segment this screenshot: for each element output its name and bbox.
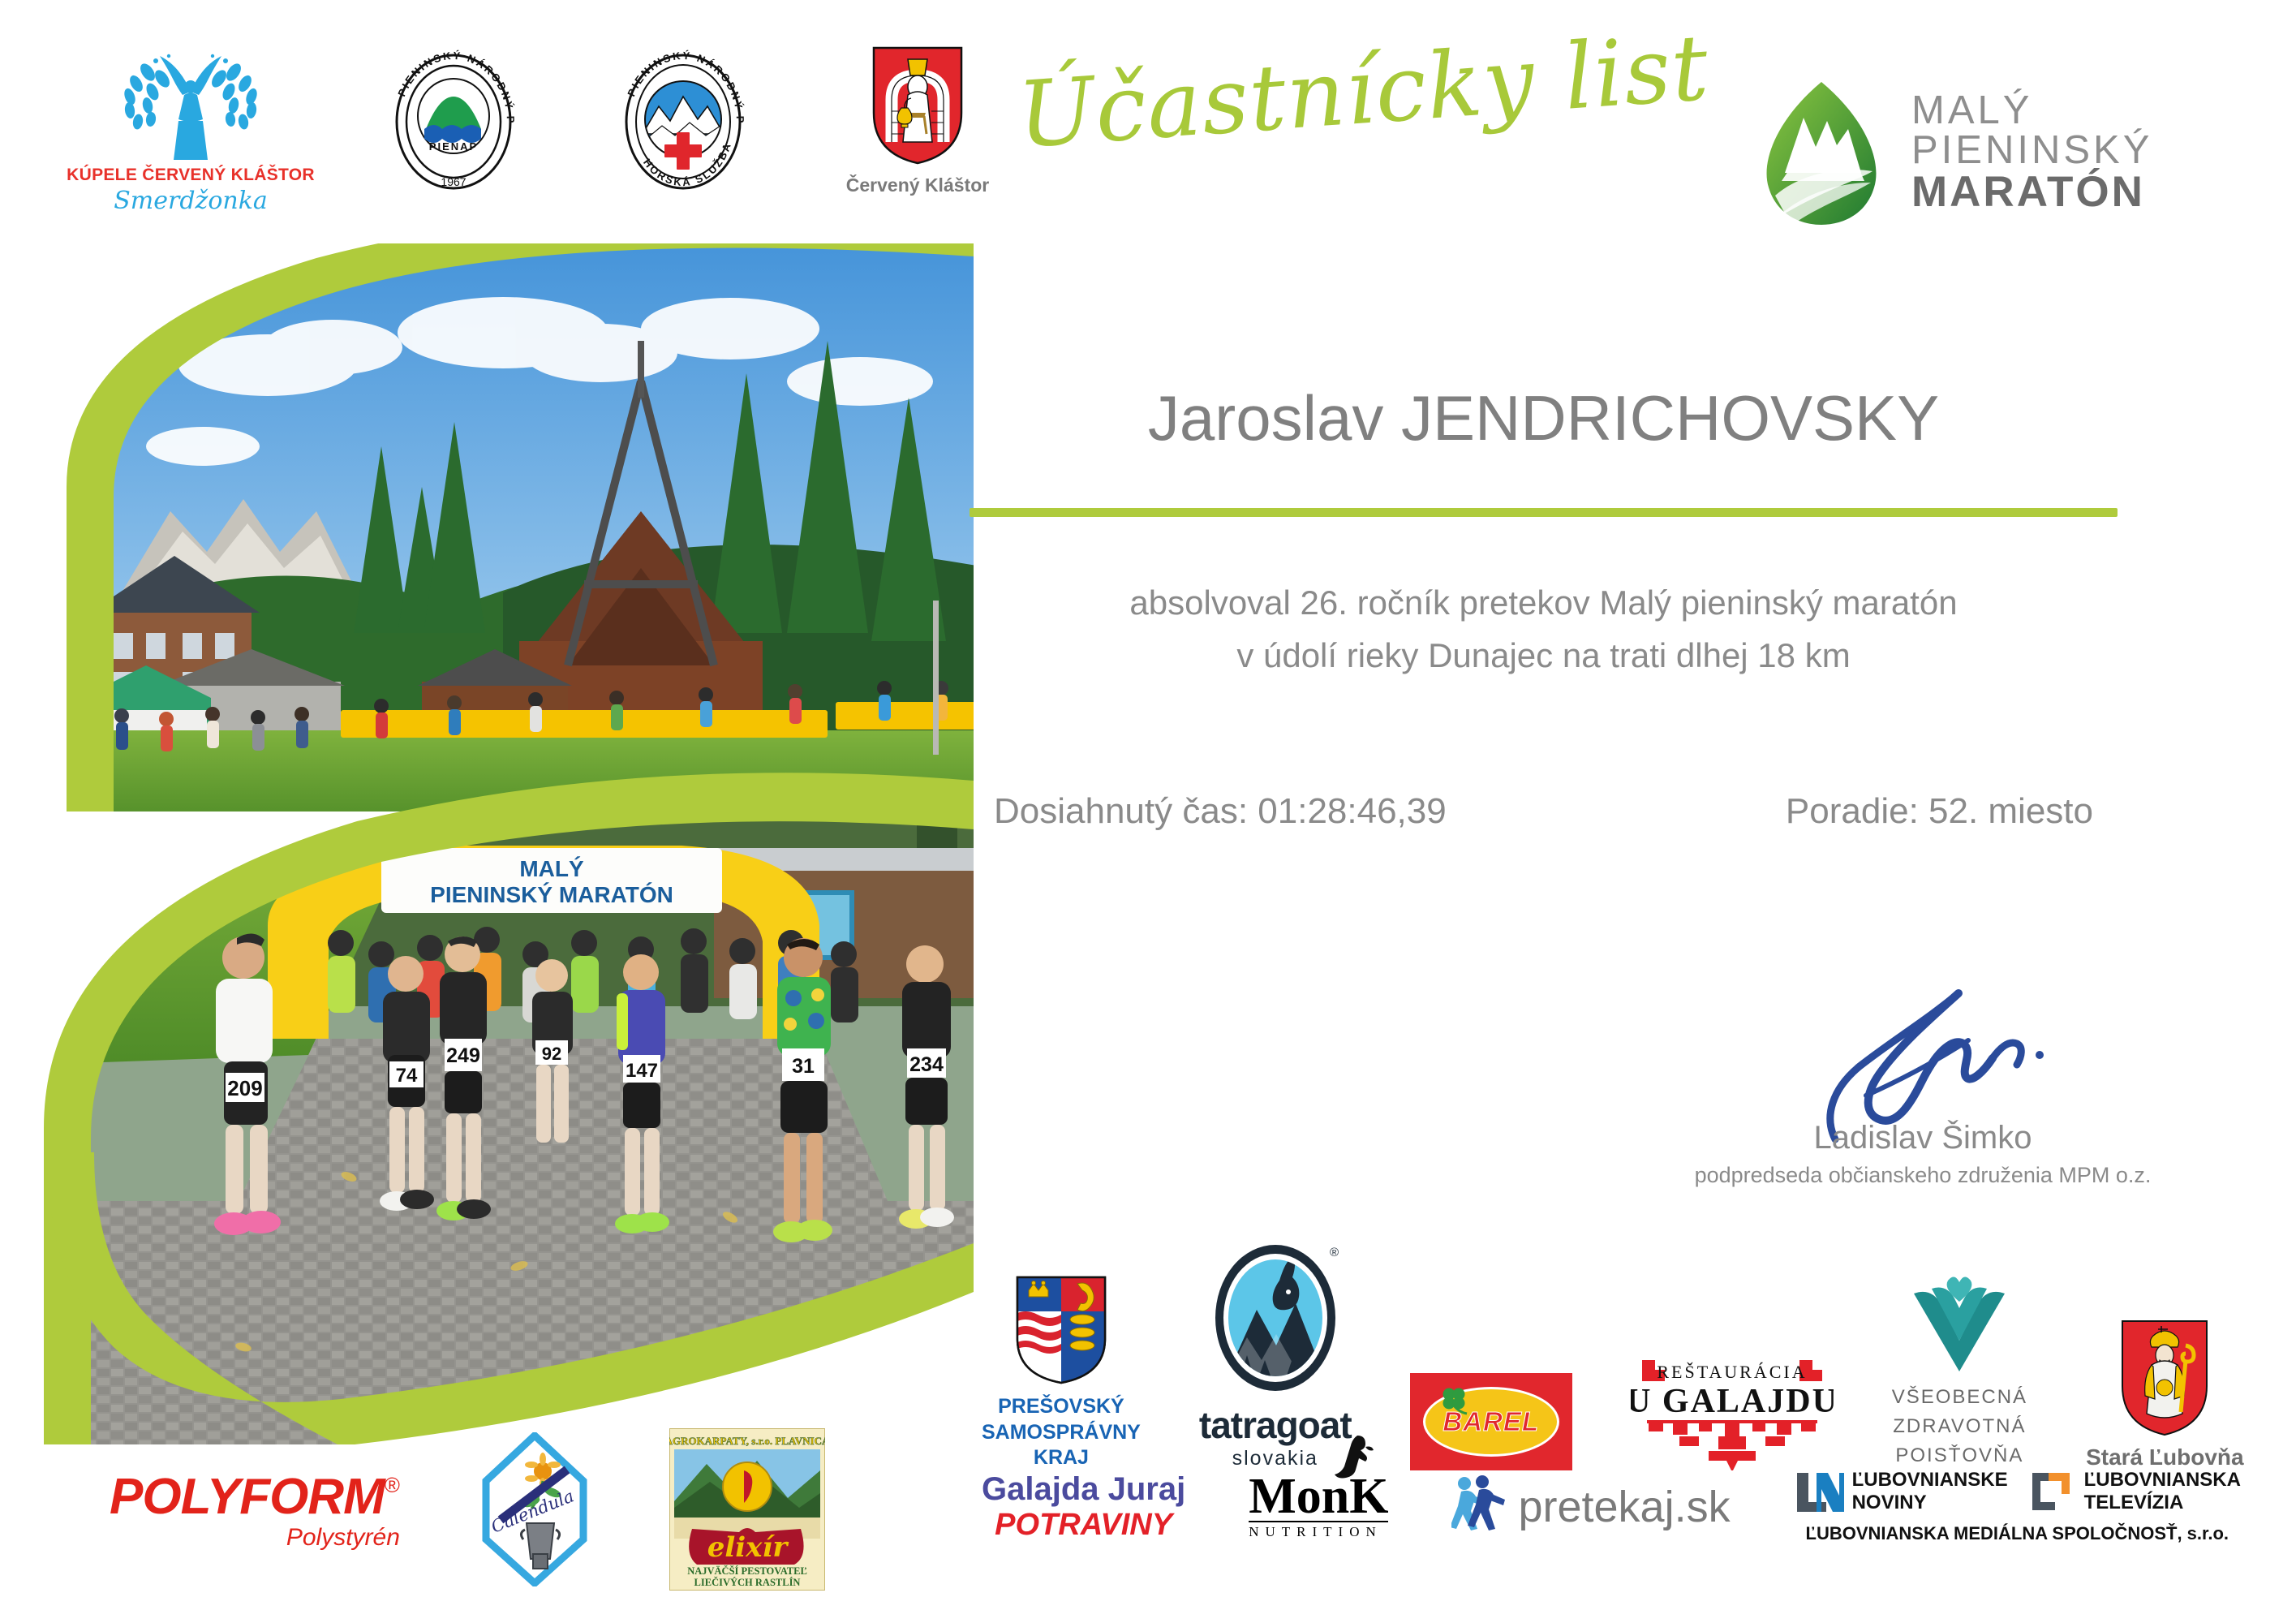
- sponsor-lubovnianska-medialna: ĽUBOVNIANSKE NOVINY ĽUBOVNIANSKA TELEVÍZ…: [1794, 1469, 2241, 1544]
- brand-line-2: PIENINSKÝ: [1911, 131, 2152, 170]
- svg-text:LIEČIVÝCH RASTLÍN: LIEČIVÝCH RASTLÍN: [694, 1577, 800, 1588]
- certificate-results: Dosiahnutý čas: 01:28:46,39 Poradie: 52.…: [970, 791, 2118, 832]
- svg-text:AGROKARPATY, s.r.o. PLAVNICA: AGROKARPATY, s.r.o. PLAVNICA: [669, 1435, 825, 1447]
- leaf-mountain-icon: [1752, 77, 1890, 227]
- signature-block: Ladislav Šimko podpredseda občianskeho z…: [1639, 998, 2207, 1188]
- logo-horska-sluzba: PIENINSKÝ NÁRODNÝ PARK HORSKÁ SLUŽBA: [615, 45, 751, 199]
- town-crest-icon: [869, 45, 966, 166]
- photo-collage: MALÝ PIENINSKÝ MARATÓN: [0, 243, 974, 1444]
- pretekaj-word: pretekaj.sk: [1518, 1482, 1730, 1532]
- sponsor-row-primary: PREŠOVSKÝ SAMOSPRÁVNY KRAJ: [982, 1242, 2244, 1470]
- description-line-1: absolvoval 26. ročník pretekov Malý pien…: [970, 576, 2118, 629]
- tatragoat-sub: slovakia: [1232, 1447, 1318, 1470]
- tatragoat-word: tatragoat: [1199, 1403, 1352, 1447]
- tatragoat-rmark: ®: [1330, 1246, 1339, 1259]
- participant-name: Jaroslav JENDRICHOVSKY: [970, 381, 2118, 455]
- result-time: Dosiahnutý čas: 01:28:46,39: [994, 791, 1447, 832]
- svg-text:elixír: elixír: [707, 1531, 789, 1564]
- stara-lubovna-label: Stará Ľubovňa: [2086, 1444, 2243, 1470]
- galajda-line-2: POTRAVINY: [995, 1508, 1172, 1543]
- lubovnianska-televizia-label: ĽUBOVNIANSKA TELEVÍZIA: [2084, 1469, 2241, 1513]
- lubovnianske-noviny-label: ĽUBOVNIANSKE NOVINY: [1852, 1469, 2008, 1513]
- svg-text:249: 249: [446, 1044, 480, 1067]
- sponsor-tatragoat: ® tatragoat slovakia: [1199, 1242, 1352, 1470]
- svg-text:MALÝ: MALÝ: [519, 856, 584, 881]
- agrokarpaty-elixir-icon: AGROKARPATY, s.r.o. PLAVNICA elixír NAJV…: [669, 1428, 825, 1591]
- signatory-name: Ladislav Šimko: [1639, 1120, 2207, 1156]
- sponsor-polyform: POLYFORM ® Polystyrén: [110, 1468, 400, 1552]
- signatory-role: podpredseda občianskeho združenia MPM o.…: [1639, 1163, 2207, 1188]
- ltv-logo-icon: [2029, 1470, 2076, 1513]
- svg-text:31: 31: [792, 1055, 815, 1078]
- lms-logos: ĽUBOVNIANSKE NOVINY ĽUBOVNIANSKA TELEVÍZ…: [1794, 1469, 2241, 1513]
- sponsor-galajda-juraj: Galajda Juraj POTRAVINY: [982, 1471, 1185, 1543]
- svg-text:92: 92: [542, 1044, 561, 1064]
- sponsor-group-bottom-left: POLYFORM ® Polystyrén: [110, 1428, 825, 1591]
- park-emblem-icon: PIENINSKÝ NÁRODNÝ PARK PIENAP 1967: [385, 45, 522, 199]
- marathon-brand-logo: MALÝ PIENINSKÝ MARATÓN: [1752, 77, 2152, 227]
- presov-region-crest-icon: [1014, 1274, 1108, 1386]
- svg-text:209: 209: [227, 1076, 262, 1100]
- galajda-line-1: Galajda Juraj: [982, 1471, 1185, 1508]
- svg-text:234: 234: [909, 1053, 944, 1076]
- svg-text:147: 147: [626, 1060, 658, 1082]
- logo-kupele-cerveny-klastor: KÚPELE ČERVENÝ KLÁŠTOR Smerdžonka: [89, 45, 292, 215]
- svg-text:REŠTAURÁCIA: REŠTAURÁCIA: [1657, 1362, 1807, 1382]
- two-runners-icon: [1451, 1474, 1507, 1540]
- sponsor-pretekaj: pretekaj.sk: [1451, 1474, 1730, 1540]
- logo-cerveny-klastor: Červený Kláštor: [845, 45, 991, 196]
- sponsor-stara-lubovna: Stará Ľubovňa: [2086, 1318, 2243, 1470]
- svg-text:PIENINSKÝ MARATÓN: PIENINSKÝ MARATÓN: [430, 882, 673, 907]
- svg-text:NAJVÄČŠÍ PESTOVATEĽ: NAJVÄČŠÍ PESTOVATEĽ: [687, 1565, 807, 1577]
- vszp-icon: [1907, 1271, 2011, 1375]
- certificate-description: absolvoval 26. ročník pretekov Malý pien…: [970, 576, 2118, 682]
- sponsor-elixir: AGROKARPATY, s.r.o. PLAVNICA elixír NAJV…: [669, 1428, 825, 1591]
- svg-text:1967: 1967: [441, 175, 466, 188]
- sponsor-barel: BAREL: [1410, 1373, 1572, 1470]
- ln-logo-icon: [1794, 1470, 1844, 1513]
- description-line-2: v údolí rieky Dunajec na trati dlhej 18 …: [970, 629, 2118, 682]
- sponsor-u-galajdu: REŠTAURÁCIA U GALAJDU: [1631, 1349, 1834, 1470]
- calendula-icon: Calendula: [481, 1432, 588, 1586]
- photo-collage-svg: MALÝ PIENINSKÝ MARATÓN: [0, 243, 974, 1444]
- lms-company-name: ĽUBOVNIANSKA MEDIÁLNA SPOLOČNOSŤ, s.r.o.: [1806, 1523, 2229, 1544]
- sponsor-calendula: Calendula: [481, 1432, 588, 1586]
- page-title: Účastnícky list: [1014, 15, 1712, 169]
- water-angel-icon: [97, 45, 284, 162]
- vszp-label: VŠEOBECNÁ ZDRAVOTNÁ POISŤOVŇA: [1892, 1383, 2027, 1470]
- polyform-word: POLYFORM: [110, 1468, 385, 1526]
- logo-cerveny-klastor-label: Červený Kláštor: [846, 174, 989, 196]
- mountain-rescue-icon: PIENINSKÝ NÁRODNÝ PARK HORSKÁ SLUŽBA: [615, 45, 751, 199]
- logo-pienap: PIENINSKÝ NÁRODNÝ PARK PIENAP 1967: [385, 45, 522, 199]
- monk-sub: NUTRITION: [1249, 1521, 1388, 1540]
- polyform-tm: ®: [385, 1473, 400, 1498]
- svg-text:74: 74: [396, 1065, 418, 1087]
- certificate-page: KÚPELE ČERVENÝ KLÁŠTOR Smerdžonka PIENIN…: [0, 0, 2296, 1623]
- sponsor-presovsky-kraj: PREŠOVSKÝ SAMOSPRÁVNY KRAJ: [982, 1274, 1141, 1470]
- sponsor-row-secondary: Galajda Juraj POTRAVINY MonK NUTRITION: [982, 1469, 2241, 1544]
- sponsor-vszp: VŠEOBECNÁ ZDRAVOTNÁ POISŤOVŇA: [1892, 1271, 2027, 1470]
- sponsor-monk-nutrition: MonK NUTRITION: [1249, 1473, 1388, 1540]
- name-divider: [970, 508, 2118, 517]
- tatragoat-icon: ®: [1211, 1242, 1339, 1394]
- monk-word: MonK: [1249, 1473, 1388, 1521]
- svg-text:U GALAJDU: U GALAJDU: [1631, 1383, 1834, 1420]
- presov-kraj-label: PREŠOVSKÝ SAMOSPRÁVNY KRAJ: [982, 1394, 1141, 1470]
- header-logo-strip: KÚPELE ČERVENÝ KLÁŠTOR Smerdžonka PIENIN…: [89, 45, 991, 215]
- logo-kupele-title: KÚPELE ČERVENÝ KLÁŠTOR: [67, 166, 315, 185]
- stara-lubovna-crest-icon: [2119, 1318, 2210, 1438]
- polyform-sub: Polystyrén: [110, 1524, 400, 1552]
- clover-icon: [1438, 1384, 1470, 1417]
- barel-panel: BAREL: [1410, 1373, 1572, 1470]
- logo-kupele-subtitle: Smerdžonka: [114, 187, 268, 215]
- brand-line-1: MALÝ: [1911, 91, 2152, 131]
- running-monk-icon: [1330, 1434, 1378, 1479]
- brand-line-3: MARATÓN: [1911, 170, 2152, 213]
- svg-text:PIENAP: PIENAP: [429, 140, 478, 153]
- u-galajdu-icon: REŠTAURÁCIA U GALAJDU: [1631, 1349, 1834, 1470]
- result-place: Poradie: 52. miesto: [1786, 791, 2093, 832]
